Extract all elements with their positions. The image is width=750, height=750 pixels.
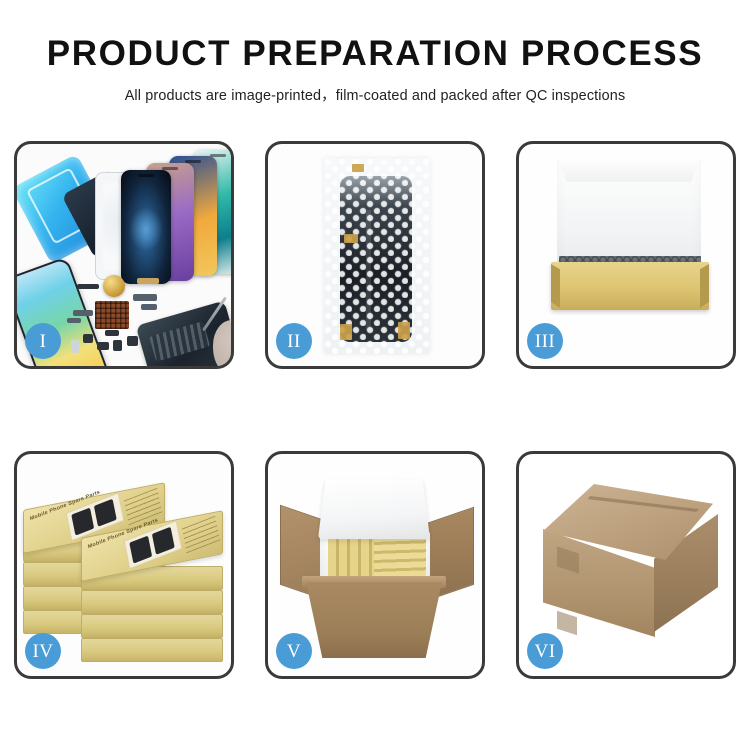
step-badge: II <box>276 323 312 359</box>
stacked-box <box>81 638 223 662</box>
part-icon <box>105 330 119 336</box>
stacked-box <box>81 614 223 638</box>
flex-cable-icon <box>67 318 81 323</box>
phone-blue-icon <box>121 170 171 284</box>
phone-thumb-icon <box>152 527 175 555</box>
page-subtitle: All products are image-printed，film-coat… <box>0 84 750 105</box>
styrofoam-lid-icon <box>318 479 430 539</box>
part-icon <box>127 336 138 346</box>
step-badge: III <box>527 323 563 359</box>
tape-icon <box>344 234 358 243</box>
flex-cable-icon <box>73 310 93 316</box>
panel-step-6: VI <box>516 451 736 679</box>
panel-step-1: I <box>14 141 234 369</box>
phone-thumb-icon <box>94 499 117 527</box>
flex-cable-icon <box>141 304 157 310</box>
part-icon <box>71 340 79 353</box>
part-icon <box>77 284 99 289</box>
phone-thumb-icon <box>129 536 152 564</box>
panel-step-4: Mobile Phone Spare Parts Mobile Phone Sp… <box>14 451 234 679</box>
stacked-box <box>81 590 223 614</box>
tape-icon <box>340 324 352 340</box>
notch-icon <box>138 174 154 177</box>
box-spec-lines <box>182 516 220 554</box>
page-title: PRODUCT PREPARATION PROCESS <box>0 36 750 73</box>
yellow-boxes-stack-icon <box>374 536 426 576</box>
tape-icon <box>398 322 410 339</box>
phone-thumb-icon <box>71 508 94 536</box>
step-badge: IV <box>25 633 61 669</box>
part-icon <box>97 342 109 350</box>
infographic-page: PRODUCT PREPARATION PROCESS All products… <box>0 0 750 750</box>
part-icon <box>113 340 122 351</box>
panel-step-3: III <box>516 141 736 369</box>
box-flap-right-icon <box>700 264 709 308</box>
panel-step-2: II <box>265 141 485 369</box>
carton-body-icon <box>306 582 442 658</box>
part-icon <box>83 334 93 343</box>
flex-cable-icon <box>133 294 157 301</box>
carton-tape-icon <box>557 611 577 635</box>
step-badge: VI <box>527 633 563 669</box>
header: PRODUCT PREPARATION PROCESS All products… <box>0 0 750 105</box>
tape-icon <box>352 164 364 172</box>
process-grid: I II <box>14 141 736 679</box>
kraft-box-body-icon <box>551 262 709 310</box>
flex-cable-icon <box>137 278 159 284</box>
step-badge: I <box>25 323 61 359</box>
step-badge: V <box>276 633 312 669</box>
panel-step-5: V <box>265 451 485 679</box>
box-flap-left-icon <box>551 264 560 308</box>
circuit-board-icon <box>95 301 129 329</box>
speaker-coil-icon <box>103 275 125 297</box>
bubble-wrap-bag-icon <box>324 158 430 354</box>
